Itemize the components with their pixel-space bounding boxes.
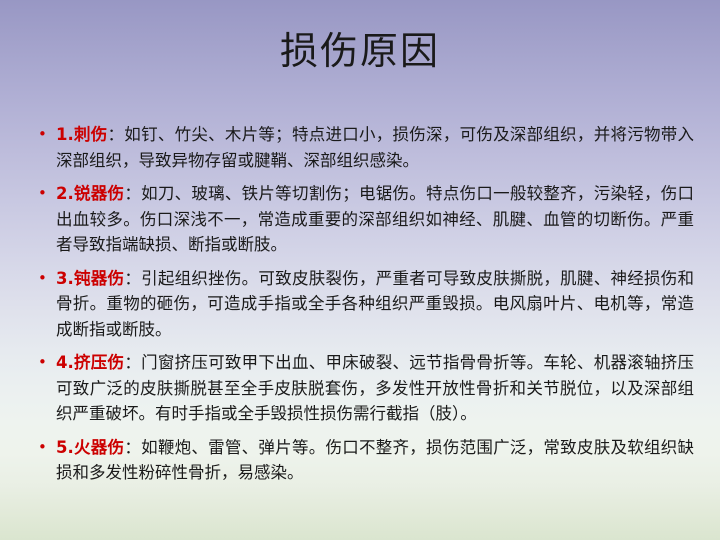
bullet-rest: ：如刀、玻璃、铁片等切割伤；电锯伤。特点伤口一般较整齐，污染轻，伤口出血较多。伤… [56, 184, 694, 254]
bullet-lead: 3.钝器伤 [56, 269, 124, 288]
bullet-lead: 1.刺伤 [56, 125, 108, 144]
bullet-marker-icon: • [34, 266, 56, 291]
bullet-rest: ：如鞭炮、雷管、弹片等。伤口不整齐，损伤范围广泛，常致皮肤及软组织缺损和多发性粉… [56, 438, 694, 483]
bullet-lead: 5.火器伤 [56, 438, 124, 457]
bullet-body: 5.火器伤：如鞭炮、雷管、弹片等。伤口不整齐，损伤范围广泛，常致皮肤及软组织缺损… [56, 435, 694, 486]
bullet-marker-icon: • [34, 350, 56, 375]
bullet-marker-icon: • [34, 181, 56, 206]
bullet-lead: 4.挤压伤 [56, 353, 124, 372]
bullet-body: 4.挤压伤：门窗挤压可致甲下出血、甲床破裂、远节指骨骨折等。车轮、机器滚轴挤压可… [56, 350, 694, 427]
bullet-rest: ：如钉、竹尖、木片等；特点进口小，损伤深，可伤及深部组织，并将污物带入深部组织，… [56, 125, 694, 170]
bullet-body: 3.钝器伤：引起组织挫伤。可致皮肤裂伤，严重者可导致皮肤撕脱，肌腱、神经损伤和骨… [56, 266, 694, 343]
bullet-lead: 2.锐器伤 [56, 184, 124, 203]
list-item: • 1.刺伤：如钉、竹尖、木片等；特点进口小，损伤深，可伤及深部组织，并将污物带… [34, 122, 694, 173]
list-item: • 2.锐器伤：如刀、玻璃、铁片等切割伤；电锯伤。特点伤口一般较整齐，污染轻，伤… [34, 181, 694, 258]
bullet-marker-icon: • [34, 435, 56, 460]
bullet-body: 1.刺伤：如钉、竹尖、木片等；特点进口小，损伤深，可伤及深部组织，并将污物带入深… [56, 122, 694, 173]
bullet-rest: ：引起组织挫伤。可致皮肤裂伤，严重者可导致皮肤撕脱，肌腱、神经损伤和骨折。重物的… [56, 269, 694, 339]
bullet-body: 2.锐器伤：如刀、玻璃、铁片等切割伤；电锯伤。特点伤口一般较整齐，污染轻，伤口出… [56, 181, 694, 258]
list-item: • 5.火器伤：如鞭炮、雷管、弹片等。伤口不整齐，损伤范围广泛，常致皮肤及软组织… [34, 435, 694, 486]
bullet-list: • 1.刺伤：如钉、竹尖、木片等；特点进口小，损伤深，可伤及深部组织，并将污物带… [34, 122, 694, 494]
bullet-marker-icon: • [34, 122, 56, 147]
page-title: 损伤原因 [0, 28, 720, 74]
list-item: • 3.钝器伤：引起组织挫伤。可致皮肤裂伤，严重者可导致皮肤撕脱，肌腱、神经损伤… [34, 266, 694, 343]
bullet-rest: ：门窗挤压可致甲下出血、甲床破裂、远节指骨骨折等。车轮、机器滚轴挤压可致广泛的皮… [56, 353, 694, 423]
list-item: • 4.挤压伤：门窗挤压可致甲下出血、甲床破裂、远节指骨骨折等。车轮、机器滚轴挤… [34, 350, 694, 427]
slide-canvas: 损伤原因 • 1.刺伤：如钉、竹尖、木片等；特点进口小，损伤深，可伤及深部组织，… [0, 0, 720, 540]
